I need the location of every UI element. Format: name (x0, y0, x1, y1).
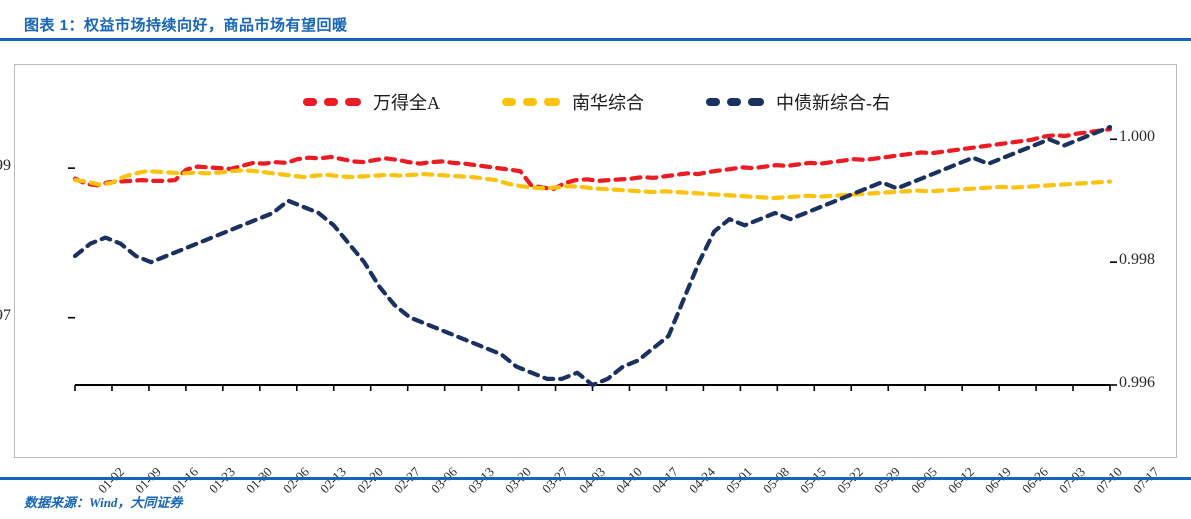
x-tick-7: 02-20 (354, 464, 387, 497)
footer-divider (0, 477, 1191, 480)
x-tick-24: 06-19 (982, 464, 1015, 497)
y-tick-right-1: 0.998 (1119, 251, 1155, 269)
x-tick-21: 05-29 (871, 464, 904, 497)
y-tick-right-2: 1.000 (1119, 128, 1155, 146)
header-divider (0, 38, 1191, 41)
x-tick-23: 06-12 (945, 464, 978, 497)
y-tick-left-1: 0.99 (0, 157, 11, 175)
x-tick-26: 07-03 (1056, 464, 1089, 497)
page-title: 图表 1：权益市场持续向好，商品市场有望回暖 (24, 14, 348, 35)
y-tick-left-0: 0.97 (0, 307, 11, 325)
x-tick-28: 07-17 (1130, 464, 1163, 497)
x-tick-3: 01-23 (206, 464, 239, 497)
x-tick-14: 04-10 (612, 464, 645, 497)
x-tick-17: 05-01 (723, 464, 756, 497)
x-tick-27: 07-10 (1093, 464, 1126, 497)
x-tick-5: 02-06 (280, 464, 313, 497)
x-tick-18: 05-08 (760, 464, 793, 497)
x-tick-8: 02-27 (391, 464, 424, 497)
x-tick-20: 05-22 (834, 464, 867, 497)
source-note: 数据来源：Wind，大同证券 (24, 492, 182, 511)
x-tick-12: 03-27 (538, 464, 571, 497)
x-tick-19: 05-15 (797, 464, 830, 497)
x-tick-11: 03-20 (501, 464, 534, 497)
x-tick-9: 03-06 (428, 464, 461, 497)
x-tick-6: 02-13 (317, 464, 350, 497)
x-tick-15: 04-17 (649, 464, 682, 497)
y-tick-right-0: 0.996 (1119, 374, 1155, 392)
x-tick-16: 04-24 (686, 464, 719, 497)
x-tick-13: 04-03 (575, 464, 608, 497)
chart-plot-area (15, 65, 1178, 459)
x-tick-22: 06-05 (908, 464, 941, 497)
x-tick-25: 06-26 (1019, 464, 1052, 497)
x-tick-10: 03-13 (465, 464, 498, 497)
x-tick-4: 01-30 (243, 464, 276, 497)
chart-panel: 万得全A 南华综合 中债新综合-右 0.970.99 0.9960.9981.0… (14, 64, 1177, 458)
